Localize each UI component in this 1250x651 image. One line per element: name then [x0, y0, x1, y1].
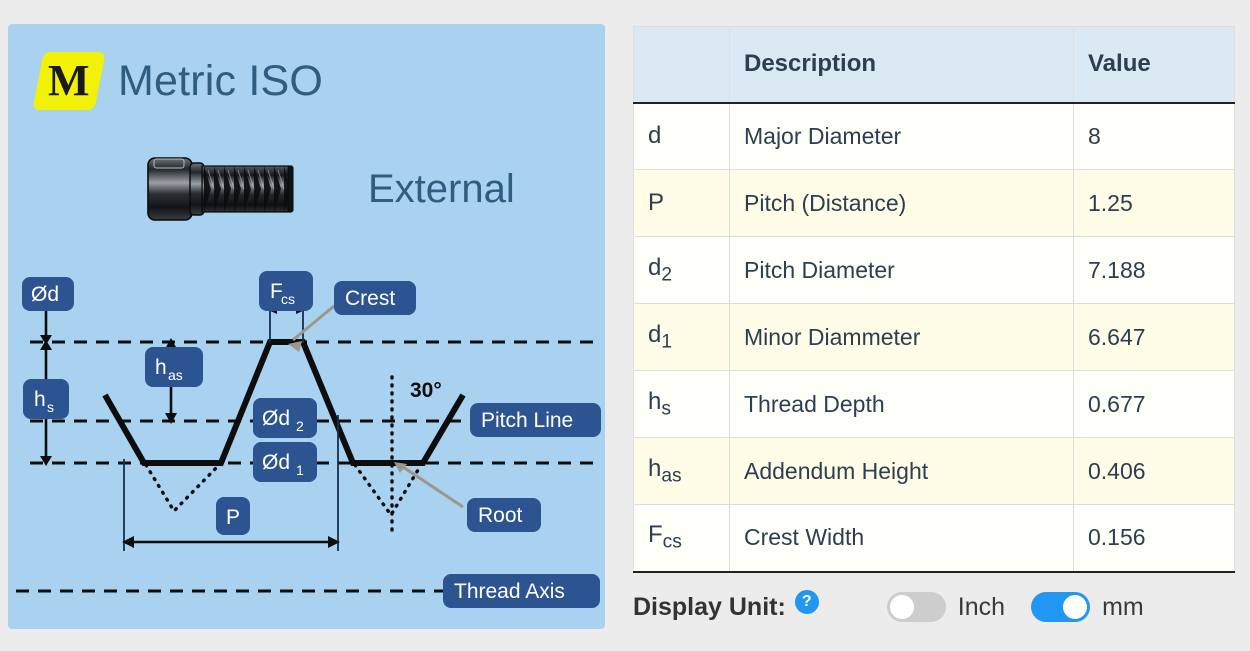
badge-pitch-label: P: [226, 506, 240, 529]
thread-spec-table: Description Value dMajor Diameter8PPitch…: [633, 26, 1235, 573]
unit-name-inch: Inch: [958, 593, 1005, 622]
badge-thread-depth-label: h: [34, 388, 46, 411]
display-unit-label: Display Unit:: [633, 593, 786, 622]
table-body: dMajor Diameter8PPitch (Distance)1.25d2P…: [634, 103, 1235, 572]
symbol-text: P: [648, 189, 664, 216]
symbol-text: d: [648, 122, 661, 149]
cell-value: 0.156: [1074, 505, 1235, 572]
badge-major-diameter: Ød: [22, 277, 74, 311]
cell-value: 6.647: [1074, 304, 1235, 371]
badge-thread-depth-sub: s: [47, 399, 54, 415]
badge-addendum-label: h: [155, 356, 167, 379]
brand-row: M Metric ISO: [38, 52, 323, 110]
badge-pitch-dia-sub: 2: [296, 418, 304, 434]
specification-panel: Description Value dMajor Diameter8PPitch…: [633, 26, 1234, 573]
symbol-text: d: [648, 321, 661, 348]
table-row: dMajor Diameter8: [634, 103, 1235, 170]
root-vee-left: [146, 465, 219, 511]
logo-letter: M: [48, 59, 90, 103]
cell-value: 0.677: [1074, 371, 1235, 438]
badge-pitch-line-label: Pitch Line: [481, 409, 573, 432]
badge-pitch-diameter: Ød 2: [253, 398, 317, 438]
badge-root: Root: [467, 498, 541, 532]
badge-crest: Crest: [334, 281, 416, 315]
badge-pitch-dia-label: Ød: [262, 407, 290, 430]
table-row: hasAddendum Height0.406: [634, 438, 1235, 505]
display-unit-control: Display Unit: ? Inchmm: [633, 586, 1144, 628]
col-header-description: Description: [730, 27, 1074, 103]
cell-description: Addendum Height: [730, 438, 1074, 505]
cell-symbol: d1: [634, 304, 730, 371]
crest-leader: [288, 306, 334, 352]
table-header-row: Description Value: [634, 27, 1235, 103]
table-row: hsThread Depth0.677: [634, 371, 1235, 438]
unit-toggle-mm[interactable]: [1031, 592, 1090, 622]
badge-crest-width: F cs: [259, 271, 313, 311]
cell-value: 0.406: [1074, 438, 1235, 505]
badge-addendum-sub: as: [168, 367, 183, 383]
flank-angle-label: 30°: [410, 379, 442, 402]
badge-crest-label: Crest: [345, 287, 395, 310]
symbol-text: F: [648, 521, 663, 548]
table-row: PPitch (Distance)1.25: [634, 170, 1235, 237]
badge-pitch-line: Pitch Line: [470, 403, 601, 437]
col-header-symbol: [634, 27, 730, 103]
unit-name-mm: mm: [1102, 593, 1144, 622]
toggle-knob: [890, 595, 914, 619]
cell-description: Thread Depth: [730, 371, 1074, 438]
cell-symbol: d2: [634, 237, 730, 304]
cell-value: 7.188: [1074, 237, 1235, 304]
thread-diagram-panel: M Metric ISO: [8, 24, 605, 629]
app-root: M Metric ISO: [0, 0, 1250, 651]
badge-major-diameter-label: Ød: [31, 283, 59, 306]
badge-thread-axis-label: Thread Axis: [454, 580, 565, 603]
cell-description: Pitch Diameter: [730, 237, 1074, 304]
badge-minor-dia-sub: 1: [296, 462, 304, 478]
help-icon[interactable]: ?: [795, 590, 819, 614]
cell-description: Pitch (Distance): [730, 170, 1074, 237]
symbol-text: d: [648, 254, 661, 281]
table-row: d2Pitch Diameter7.188: [634, 237, 1235, 304]
badge-thread-depth: h s: [23, 379, 69, 419]
cell-description: Crest Width: [730, 505, 1074, 572]
badge-pitch: P: [216, 497, 250, 535]
cell-symbol: P: [634, 170, 730, 237]
cell-symbol: hs: [634, 371, 730, 438]
badge-addendum-height: h as: [145, 347, 203, 387]
metric-logo-badge: M: [32, 52, 105, 110]
table-row: FcsCrest Width0.156: [634, 505, 1235, 572]
page-title: Metric ISO: [118, 60, 323, 103]
cell-value: 1.25: [1074, 170, 1235, 237]
bolt-icon: [146, 154, 346, 224]
bolt-illustration-row: External: [146, 154, 515, 224]
table-head: Description Value: [634, 27, 1235, 103]
cell-description: Major Diameter: [730, 103, 1074, 170]
cell-description: Minor Diammeter: [730, 304, 1074, 371]
badge-thread-axis: Thread Axis: [443, 574, 600, 608]
pitch-dimension: [122, 536, 340, 548]
symbol-text: h: [648, 388, 661, 415]
cell-symbol: Fcs: [634, 505, 730, 572]
toggle-knob: [1063, 595, 1087, 619]
thread-type-label: External: [368, 169, 515, 209]
root-leader: [394, 462, 463, 507]
major-dia-dimension: [40, 309, 52, 345]
symbol-subscript: cs: [663, 532, 682, 553]
badge-root-label: Root: [478, 504, 523, 527]
badge-crest-width-sub: cs: [281, 291, 295, 307]
badge-minor-dia-label: Ød: [262, 451, 290, 474]
badge-minor-diameter: Ød 1: [253, 442, 317, 482]
cell-value: 8: [1074, 103, 1235, 170]
symbol-subscript: 2: [661, 264, 672, 285]
cell-symbol: d: [634, 103, 730, 170]
symbol-subscript: as: [661, 465, 681, 486]
unit-toggle-group: Inchmm: [887, 592, 1144, 622]
symbol-subscript: s: [661, 398, 671, 419]
symbol-subscript: 1: [661, 331, 672, 352]
cell-symbol: has: [634, 438, 730, 505]
symbol-text: h: [648, 455, 661, 482]
thread-profile-drawing: 30° Ød h s h as F cs: [8, 269, 605, 624]
table-row: d1Minor Diammeter6.647: [634, 304, 1235, 371]
unit-toggle-inch[interactable]: [887, 592, 946, 622]
col-header-value: Value: [1074, 27, 1235, 103]
